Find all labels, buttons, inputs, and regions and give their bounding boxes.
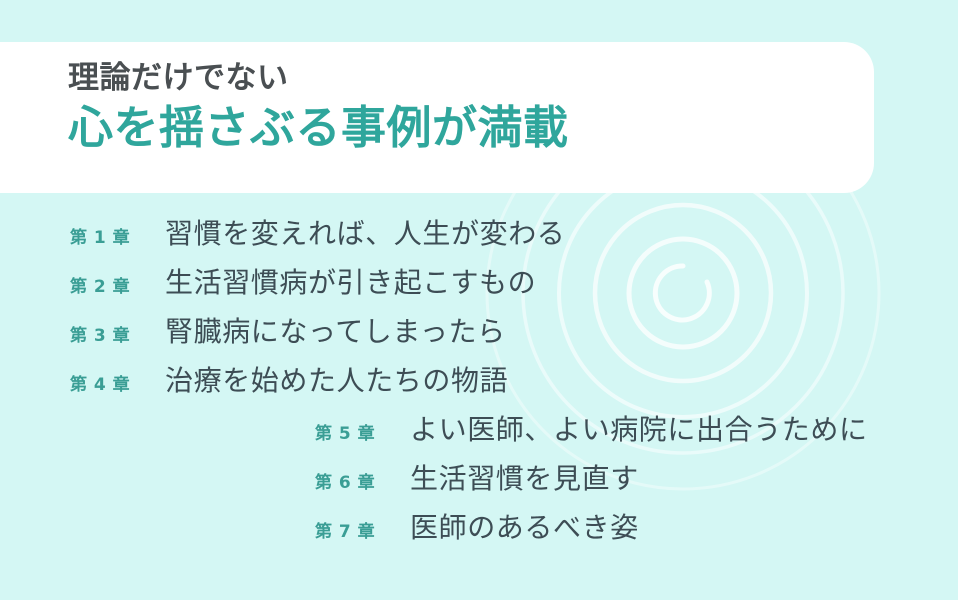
chapter-title-text: 習慣を変えれば、人生が変わる <box>165 212 565 252</box>
chapter-row: 第 3 章 腎臓病になってしまったら <box>0 310 958 359</box>
page-title-line-2: 心を揺さぶる事例が満載 <box>68 100 854 156</box>
chapter-title-text: よい医師、よい病院に出合うために <box>410 408 868 448</box>
chapter-number-label: 第 5 章 <box>315 419 410 444</box>
chapter-title-text: 腎臓病になってしまったら <box>165 310 506 350</box>
chapter-row: 第 2 章 生活習慣病が引き起こすもの <box>0 261 958 310</box>
slide-root: 理論だけでない 心を揺さぶる事例が満載 第 1 章 習慣を変えれば、人生が変わる… <box>0 0 958 600</box>
chapter-number-label: 第 7 章 <box>315 517 410 542</box>
title-card-content: 理論だけでない 心を揺さぶる事例が満載 <box>68 60 854 156</box>
chapter-row: 第 7 章 医師のあるべき姿 <box>0 506 958 555</box>
chapter-row: 第 4 章 治療を始めた人たちの物語 <box>0 359 958 408</box>
chapter-title-text: 医師のあるべき姿 <box>410 506 639 546</box>
chapter-number-label: 第 3 章 <box>70 321 165 346</box>
chapter-row: 第 5 章 よい医師、よい病院に出合うために <box>0 408 958 457</box>
page-title-line-1: 理論だけでない <box>68 60 854 98</box>
chapter-row: 第 1 章 習慣を変えれば、人生が変わる <box>0 212 958 261</box>
chapter-row: 第 6 章 生活習慣を見直す <box>0 457 958 506</box>
chapter-number-label: 第 2 章 <box>70 272 165 297</box>
chapter-number-label: 第 4 章 <box>70 370 165 395</box>
chapter-number-label: 第 6 章 <box>315 468 410 493</box>
chapter-number-label: 第 1 章 <box>70 223 165 248</box>
chapter-title-text: 治療を始めた人たちの物語 <box>165 359 508 399</box>
chapter-title-text: 生活習慣を見直す <box>410 457 639 497</box>
title-card: 理論だけでない 心を揺さぶる事例が満載 <box>0 42 874 193</box>
chapter-list: 第 1 章 習慣を変えれば、人生が変わる 第 2 章 生活習慣病が引き起こすもの… <box>0 212 958 555</box>
chapter-title-text: 生活習慣病が引き起こすもの <box>165 261 536 301</box>
